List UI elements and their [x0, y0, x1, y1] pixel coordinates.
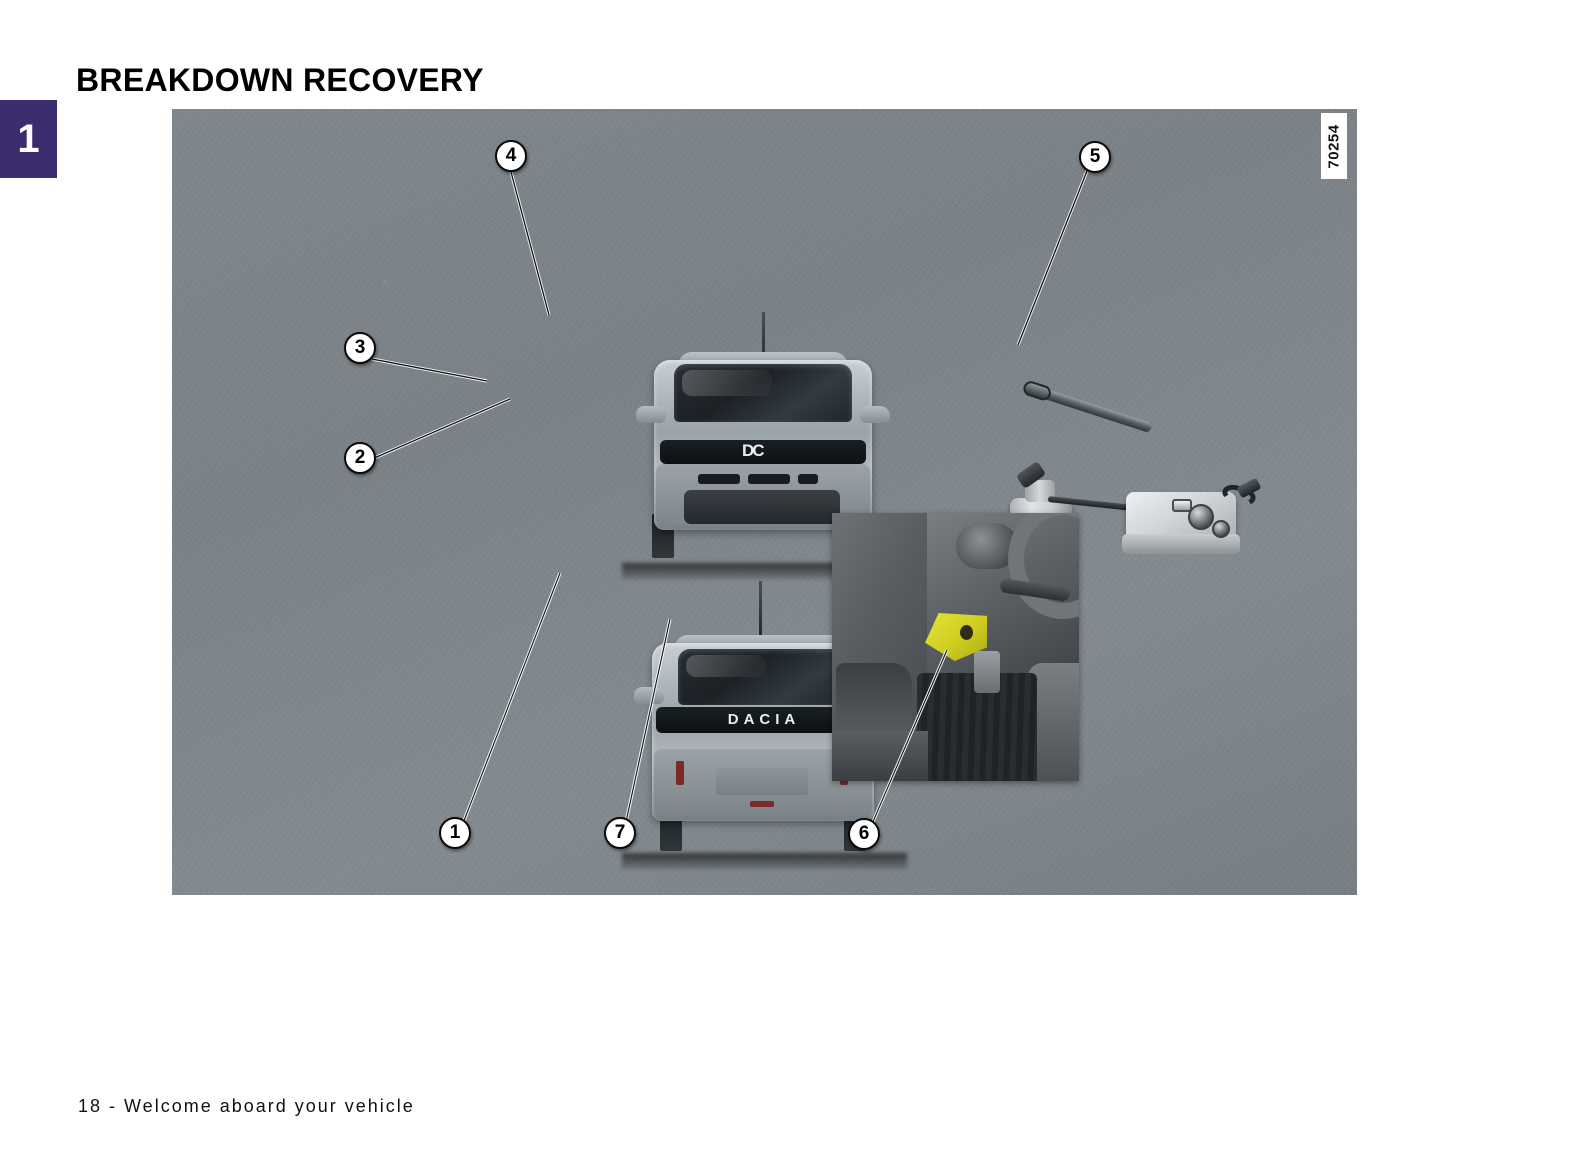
towing-eye-shaft [1043, 389, 1153, 433]
page-footer: 18 - Welcome aboard your vehicle [78, 1096, 415, 1117]
door-storage-pocket [836, 663, 912, 733]
fog-lamp-centre [750, 801, 774, 807]
bumper-slot-mid [748, 474, 790, 484]
callout-1[interactable]: 1 [439, 817, 471, 849]
towing-eye-tool [1022, 379, 1152, 433]
rear-antenna-icon [759, 581, 762, 639]
chapter-number-badge: 1 [0, 100, 57, 178]
leader-line-3 [372, 359, 487, 381]
bumper-slot-right [798, 474, 818, 484]
leader-line-5 [1018, 171, 1087, 345]
callout-6[interactable]: 6 [848, 818, 880, 850]
compressor-knob [1212, 520, 1230, 538]
rear-window-highlight [686, 655, 766, 677]
lower-grille [684, 490, 840, 524]
bumper-slot-left [698, 474, 740, 484]
callout-3[interactable]: 3 [344, 332, 376, 364]
illustration-panel: 70254 DC DACIA [172, 109, 1357, 895]
pedal [974, 651, 1000, 693]
mirror-left [634, 687, 664, 704]
brand-logo: DC [742, 441, 763, 461]
callout-5[interactable]: 5 [1079, 141, 1111, 173]
footwell-bonnet-release-photo [832, 513, 1079, 781]
door-sill [832, 731, 928, 781]
towing-eye-head [1022, 379, 1053, 402]
windscreen-highlight [682, 370, 772, 396]
bonnet-release-lever-hole [960, 625, 973, 640]
callout-4[interactable]: 4 [495, 140, 527, 172]
callout-7[interactable]: 7 [604, 817, 636, 849]
tyre-inflation-compressor [1126, 482, 1248, 564]
pressure-gauge-dial [1188, 504, 1214, 530]
number-plate [716, 767, 808, 795]
page-title: BREAKDOWN RECOVERY [76, 62, 484, 99]
chapter-number-label: 1 [17, 117, 39, 162]
leader-line-1 [460, 573, 560, 831]
leader-line-2 [372, 399, 510, 459]
headlamp-bar [660, 440, 866, 464]
vehicle-shadow [622, 853, 907, 869]
mirror-left [636, 406, 666, 423]
leader-line-4 [511, 172, 549, 315]
image-reference-box: 70254 [1321, 113, 1347, 179]
mirror-right [860, 406, 890, 423]
image-reference-number: 70254 [1326, 124, 1343, 168]
callout-2[interactable]: 2 [344, 442, 376, 474]
reflector-left [676, 761, 684, 785]
